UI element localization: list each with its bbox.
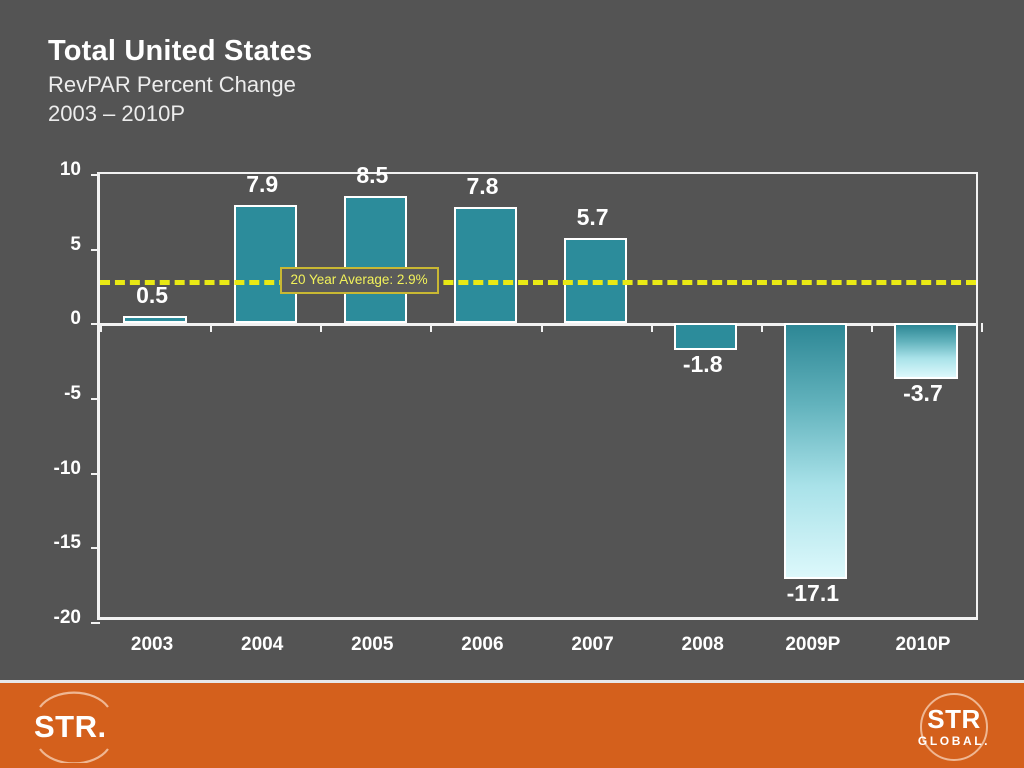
x-axis-tick <box>981 323 983 332</box>
bar-value-label-2003: 0.5 <box>97 282 207 309</box>
x-axis-tick <box>100 323 102 332</box>
str-logo: STR. <box>18 691 128 763</box>
y-axis-tick <box>91 174 100 176</box>
x-axis-tick <box>210 323 212 332</box>
bar-value-label-2007: 5.7 <box>538 204 648 231</box>
average-line <box>100 280 976 285</box>
x-axis-label-2007: 2007 <box>538 634 648 656</box>
bar-2005[interactable] <box>344 196 407 323</box>
x-axis-label-2005: 2005 <box>317 634 427 656</box>
bar-value-label-2010P: -3.7 <box>868 380 978 407</box>
x-axis-label-2010P: 2010P <box>868 634 978 656</box>
x-axis-tick <box>871 323 873 332</box>
bar-2003[interactable] <box>123 316 186 323</box>
footer-bar: STR. STR GLOBAL. <box>0 680 1024 768</box>
y-axis-tick-label: -10 <box>0 458 81 480</box>
str-logo-text: STR. <box>34 711 107 742</box>
x-axis-tick <box>320 323 322 332</box>
x-axis-label-2009P: 2009P <box>758 634 868 656</box>
x-axis-tick <box>651 323 653 332</box>
average-line-label: 20 Year Average: 2.9% <box>280 267 439 294</box>
x-axis-label-2003: 2003 <box>97 634 207 656</box>
bar-2010P[interactable] <box>894 323 957 378</box>
y-axis-tick-label: -5 <box>0 383 81 405</box>
y-axis-tick-label: 5 <box>0 234 81 256</box>
y-axis-tick <box>91 398 100 400</box>
bar-2008[interactable] <box>674 323 737 350</box>
y-axis-tick-label: -15 <box>0 532 81 554</box>
str-global-logo: STR GLOBAL. <box>902 689 1006 765</box>
y-axis-tick-label: -20 <box>0 607 81 629</box>
x-axis-label-2006: 2006 <box>427 634 537 656</box>
bar-2004[interactable] <box>234 205 297 323</box>
bar-value-label-2009P: -17.1 <box>758 580 868 607</box>
chart: 1050-5-10-15-20 20 Year Average: 2.9% 20… <box>0 0 1024 680</box>
plot-area: 20 Year Average: 2.9% <box>97 172 978 620</box>
x-axis-tick <box>430 323 432 332</box>
bar-2009P[interactable] <box>784 323 847 578</box>
x-axis-label-2004: 2004 <box>207 634 317 656</box>
bar-2006[interactable] <box>454 207 517 323</box>
bar-value-label-2006: 7.8 <box>427 173 537 200</box>
bar-value-label-2005: 8.5 <box>317 162 427 189</box>
y-axis-tick <box>91 622 100 624</box>
x-axis-tick <box>761 323 763 332</box>
x-axis-tick <box>541 323 543 332</box>
str-global-logo-text: STR <box>902 706 1006 732</box>
y-axis-tick <box>91 249 100 251</box>
x-axis-label-2008: 2008 <box>648 634 758 656</box>
y-axis-tick <box>91 323 100 325</box>
y-axis-tick-label: 0 <box>0 308 81 330</box>
plot-inner: 20 Year Average: 2.9% <box>100 174 976 617</box>
str-global-logo-subtext: GLOBAL. <box>902 735 1006 747</box>
y-axis-tick-label: 10 <box>0 159 81 181</box>
y-axis-tick <box>91 547 100 549</box>
bar-value-label-2008: -1.8 <box>648 351 758 378</box>
y-axis-tick <box>91 473 100 475</box>
bar-value-label-2004: 7.9 <box>207 171 317 198</box>
